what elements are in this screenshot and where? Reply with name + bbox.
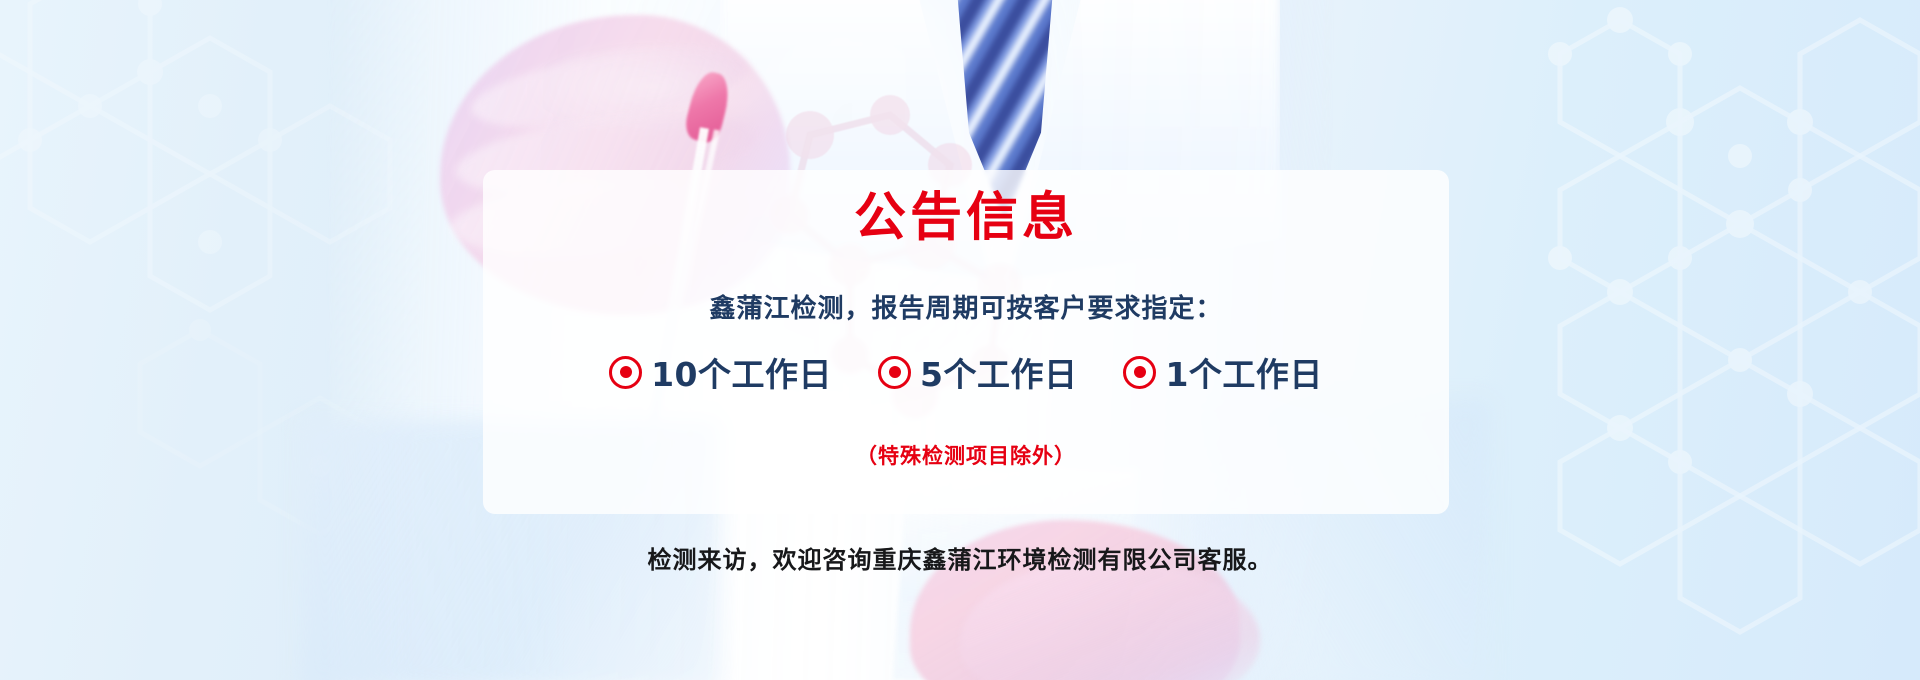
announcement-card: 公告信息 鑫蒲江检测，报告周期可按客户要求指定： 10个工作日 5个工作日 1个… [483, 170, 1449, 514]
radio-selected-icon[interactable] [878, 356, 911, 389]
option-label: 10个工作日 [651, 348, 832, 396]
announcement-subtitle: 鑫蒲江检测，报告周期可按客户要求指定： [483, 288, 1449, 325]
option-5-working-days[interactable]: 5个工作日 [878, 348, 1077, 396]
option-label: 1个工作日 [1165, 348, 1322, 396]
option-10-working-days[interactable]: 10个工作日 [609, 348, 832, 396]
announcement-banner: 公告信息 鑫蒲江检测，报告周期可按客户要求指定： 10个工作日 5个工作日 1个… [0, 0, 1920, 680]
option-1-working-day[interactable]: 1个工作日 [1123, 348, 1322, 396]
radio-selected-icon[interactable] [609, 356, 642, 389]
footer-contact-text: 检测来访，欢迎咨询重庆鑫蒲江环境检测有限公司客服。 [0, 540, 1920, 575]
page-title: 公告信息 [483, 190, 1449, 247]
option-label: 5个工作日 [920, 348, 1077, 396]
turnaround-options-row: 10个工作日 5个工作日 1个工作日 [483, 348, 1449, 396]
exclusion-note: （特殊检测项目除外） [483, 440, 1449, 470]
radio-selected-icon[interactable] [1123, 356, 1156, 389]
